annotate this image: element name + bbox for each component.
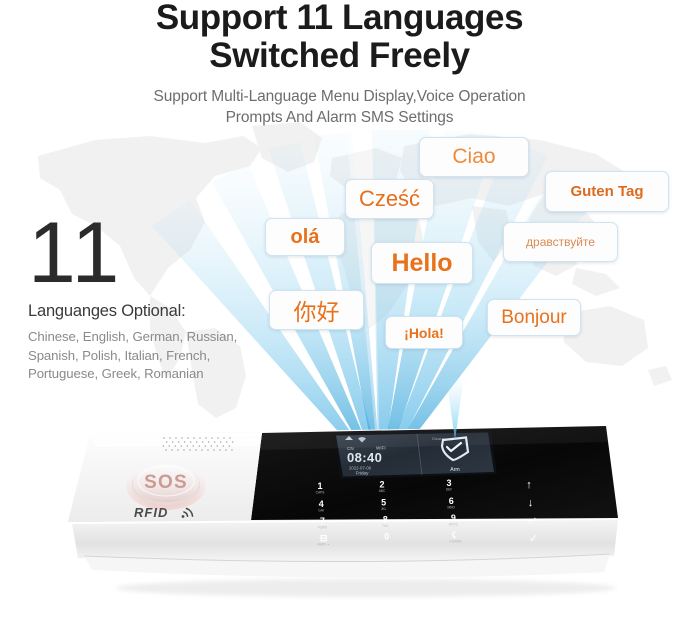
language-bubble-text: Hello: [391, 249, 452, 278]
keypad-key-sublabel: AWAY ✶: [317, 543, 330, 547]
language-bubble-hola: ¡Hola!: [385, 316, 463, 349]
keypad-key-sublabel: GHI: [318, 509, 324, 513]
keypad-key-digit: 2: [379, 480, 384, 490]
language-bubble-text: olá: [291, 226, 320, 249]
product-feature-banner: Support 11 Languages Switched Freely Sup…: [0, 0, 679, 642]
keypad-key-sublabel: WXYZ: [449, 523, 458, 527]
function-key-glyph: ↓: [528, 497, 534, 509]
language-bubble-text: Guten Tag: [570, 183, 643, 200]
device-up-arrow-icon[interactable]: ↑: [526, 479, 532, 491]
keypad-key-digit: 9: [451, 513, 456, 523]
language-count-block: 11 Languanges Optional: Chinese, English…: [28, 210, 278, 384]
language-bubble-text: дравствуйте: [526, 235, 595, 249]
language-bubble-text: ¡Hola!: [404, 325, 444, 341]
svg-text:SOS: SOS: [144, 472, 188, 493]
subheadline-line-1: Support Multi-Language Menu Display,Voic…: [0, 86, 679, 107]
language-bubble-hello: Hello: [371, 242, 473, 284]
language-count-number: 11: [28, 210, 278, 296]
keypad-key-sublabel: CAPS: [316, 491, 325, 495]
keypad-key-sublabel: DISARM: [449, 540, 462, 544]
keypad-key-sublabel: TUV: [382, 524, 389, 528]
function-key-glyph: ✓: [529, 533, 538, 545]
language-bubble-text: Cześć: [359, 186, 420, 212]
function-key-glyph: ↩: [527, 515, 536, 527]
keypad-key-digit: 7: [320, 516, 325, 526]
language-bubble-nihao: 你好: [269, 290, 364, 330]
keypad-key-digit: 3: [446, 478, 451, 488]
subheadline-line-2: Prompts And Alarm SMS Settings: [0, 107, 679, 128]
headline-line-1: Support 11 Languages: [0, 0, 679, 37]
keypad-key-sublabel: ABC: [379, 489, 386, 493]
keypad-key-digit: 4: [319, 499, 324, 509]
keypad-key-ghi[interactable]: 4GHI: [318, 499, 324, 513]
keypad-key-digit: 1: [317, 481, 322, 491]
language-bubble-text: Bonjour: [501, 307, 567, 329]
language-bubble-privet: дравствуйте: [503, 222, 618, 262]
keypad-key-jkl[interactable]: 5JKL: [381, 498, 387, 512]
language-bubble-ola: olá: [265, 218, 345, 256]
supported-languages-list: Chinese, English, German, Russian, Spani…: [28, 328, 266, 384]
keypad-key-digit: 8: [383, 515, 388, 525]
language-bubble-ciao: Ciao: [419, 137, 529, 177]
keypad-key-digit: ☾: [452, 530, 460, 540]
language-bubble-text: 你好: [294, 293, 340, 327]
keypad-key-def[interactable]: 3DEF: [446, 478, 452, 492]
keypad-key-digit: ⊟: [320, 533, 328, 543]
svg-text:RFID: RFID: [134, 505, 168, 520]
language-bubble-guten: Guten Tag: [545, 171, 669, 212]
keypad-key-digit: 6: [449, 496, 454, 506]
function-key-glyph: ↑: [526, 479, 532, 491]
alarm-panel-device: SOS RFID CN WIFI 08:40 2022-07-08 Friday: [66, 416, 622, 594]
keypad-key-sublabel: PQRS: [318, 526, 327, 530]
language-bubble-bonjour: Bonjour: [487, 299, 581, 336]
banner-header: Support 11 Languages Switched Freely Sup…: [0, 0, 679, 128]
language-bubble-text: Ciao: [452, 145, 495, 169]
language-bubble-czesc: Cześć: [345, 179, 434, 219]
keypad-key-digit: 5: [381, 498, 386, 508]
keypad-key-digit: 0: [384, 532, 389, 542]
device-down-arrow-icon[interactable]: ↓: [528, 497, 534, 509]
keypad-key-sublabel: MNO: [447, 506, 455, 510]
svg-text:Friday: Friday: [356, 471, 369, 476]
headline-line-2: Switched Freely: [0, 37, 679, 75]
screen-arm-label: Arm: [450, 467, 460, 473]
device-confirm-check-icon[interactable]: ✓: [529, 533, 538, 545]
keypad-key-sublabel: DEF: [446, 488, 452, 492]
device-back-arrow-icon[interactable]: ↩: [527, 515, 536, 527]
languages-optional-label: Languanges Optional:: [28, 302, 278, 321]
keypad-key-0[interactable]: 0: [384, 532, 389, 542]
svg-text:08:40: 08:40: [347, 450, 382, 465]
keypad-key-sublabel: JKL: [381, 507, 387, 511]
